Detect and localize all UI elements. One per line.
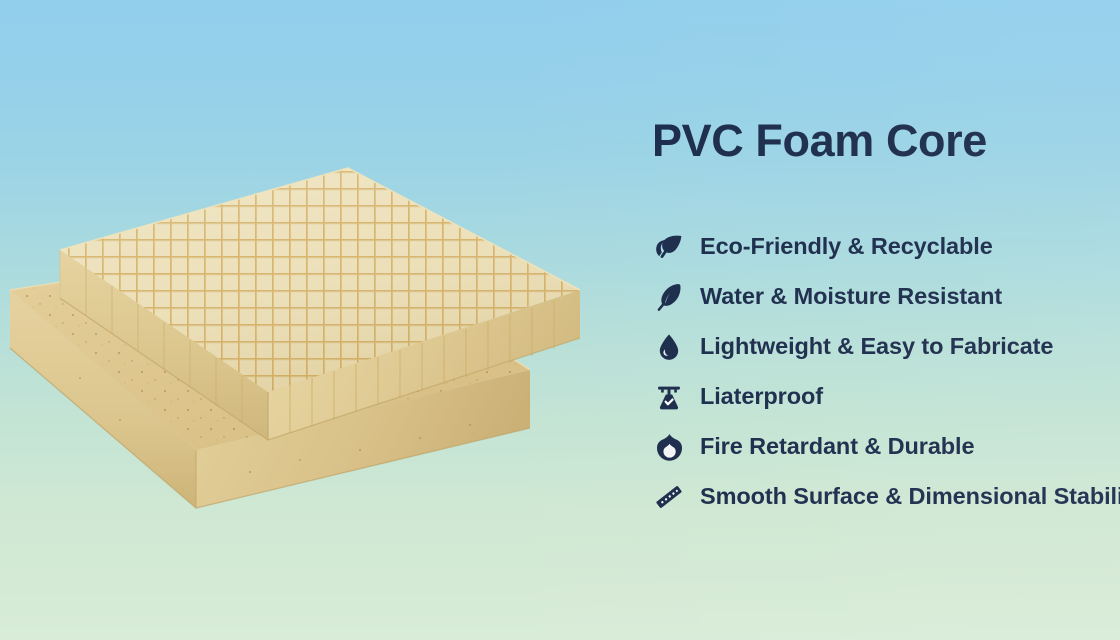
feature-label: Smooth Surface & Dimensional Stability <box>700 485 1120 509</box>
flame-icon <box>652 430 686 464</box>
feature-label: Eco-Friendly & Recyclable <box>700 235 993 259</box>
feature-item-liaterproof: Liaterproof <box>652 372 1120 422</box>
feature-list: Eco-Friendly & Recyclable Water & Moistu… <box>652 222 1120 522</box>
page-title: PVC Foam Core <box>652 118 1120 163</box>
product-feature-banner: PVC Foam Core Eco-Friendly & Recyclable <box>0 0 1120 640</box>
feather-icon <box>652 280 686 314</box>
feature-item-eco-friendly: Eco-Friendly & Recyclable <box>652 222 1120 272</box>
foam-panels-svg <box>0 120 650 550</box>
feature-item-fire-retardant: Fire Retardant & Durable <box>652 422 1120 472</box>
pvc-foam-panels-illustration <box>0 120 650 550</box>
scale-icon <box>652 380 686 414</box>
leaf-icon <box>652 230 686 264</box>
feature-item-water-resistant: Water & Moisture Resistant <box>652 272 1120 322</box>
feature-item-lightweight: Lightweight & Easy to Fabricate <box>652 322 1120 372</box>
feature-content-panel: PVC Foam Core Eco-Friendly & Recyclable <box>652 118 1120 163</box>
feature-label: Fire Retardant & Durable <box>700 435 974 459</box>
feature-label: Liaterproof <box>700 385 823 409</box>
feature-item-smooth-surface: Smooth Surface & Dimensional Stability <box>652 472 1120 522</box>
ruler-icon <box>652 480 686 514</box>
feature-label: Water & Moisture Resistant <box>700 285 1002 309</box>
feature-label: Lightweight & Easy to Fabricate <box>700 335 1053 359</box>
water-drop-icon <box>652 330 686 364</box>
